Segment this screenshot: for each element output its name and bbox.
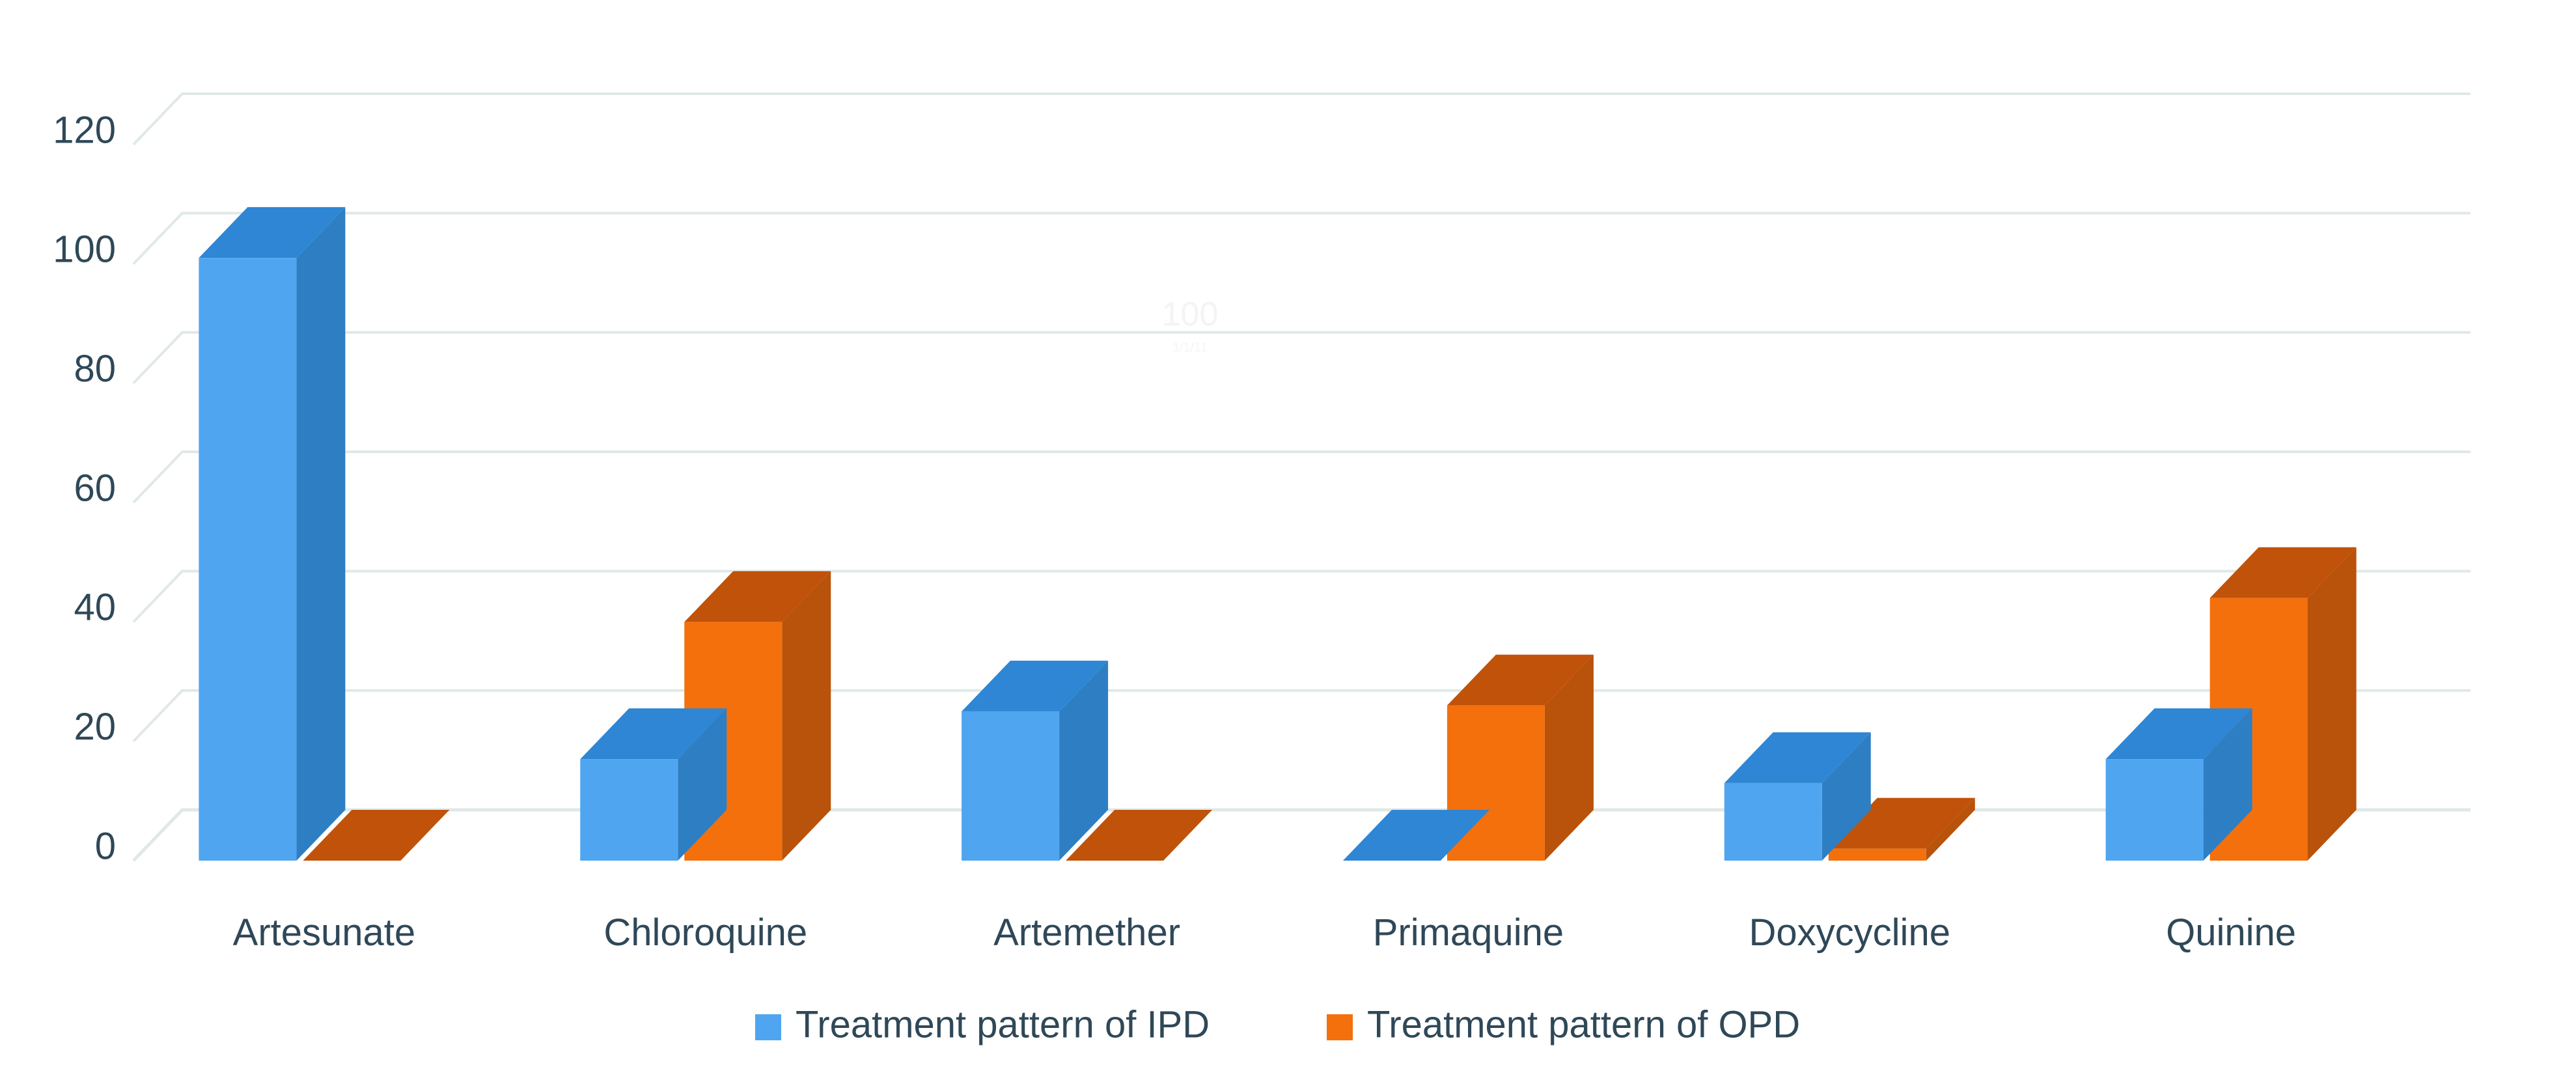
y-axis-tick-label: 120 xyxy=(53,109,116,151)
bar-front-face xyxy=(2106,759,2204,861)
watermark-line-2: 1/1/11 xyxy=(1172,340,1208,355)
bar-front-face xyxy=(962,712,1059,861)
legend-color-swatch xyxy=(755,1014,781,1040)
x-axis-tick-label: Doxycycline xyxy=(1749,911,1950,954)
x-axis-tick-label: Artesunate xyxy=(233,911,416,954)
x-axis-tick-label: Quinine xyxy=(2166,911,2296,954)
bar-chart-figure: 020406080100120 100 1/1/11 ArtesunateChl… xyxy=(0,0,2576,1067)
chart-canvas: 020406080100120 100 1/1/11 ArtesunateChl… xyxy=(0,0,2576,1067)
chart-background xyxy=(0,0,2576,1067)
bar-side-face xyxy=(296,207,345,861)
y-axis-tick-label: 20 xyxy=(74,706,116,748)
y-axis-tick-label: 60 xyxy=(74,467,116,509)
legend-item[interactable]: Treatment pattern of OPD xyxy=(1327,1003,1800,1046)
bar-front-face xyxy=(199,258,296,861)
x-axis-tick-label: Chloroquine xyxy=(603,911,807,954)
x-axis-tick-label: Artemether xyxy=(993,911,1180,954)
y-axis-tick-label: 40 xyxy=(74,587,116,629)
bar-front-face xyxy=(1724,783,1822,861)
legend-item-label: Treatment pattern of IPD xyxy=(796,1003,1210,1046)
bar-ipd xyxy=(962,661,1108,861)
bar-side-face xyxy=(782,571,831,861)
y-axis-tick-label: 0 xyxy=(95,825,116,867)
bar-ipd xyxy=(199,207,345,861)
legend-item-label: Treatment pattern of OPD xyxy=(1367,1003,1800,1046)
bar-front-face xyxy=(580,759,678,861)
y-axis-tick-label: 80 xyxy=(74,348,116,390)
bar-side-face xyxy=(2308,547,2357,861)
watermark-line-1: 100 xyxy=(1162,296,1219,333)
y-axis-tick-label: 100 xyxy=(53,229,116,271)
legend-item[interactable]: Treatment pattern of IPD xyxy=(755,1003,1210,1046)
legend-color-swatch xyxy=(1327,1014,1353,1040)
bar-front-face xyxy=(1829,849,1926,861)
x-axis-tick-label: Primaquine xyxy=(1373,911,1564,954)
